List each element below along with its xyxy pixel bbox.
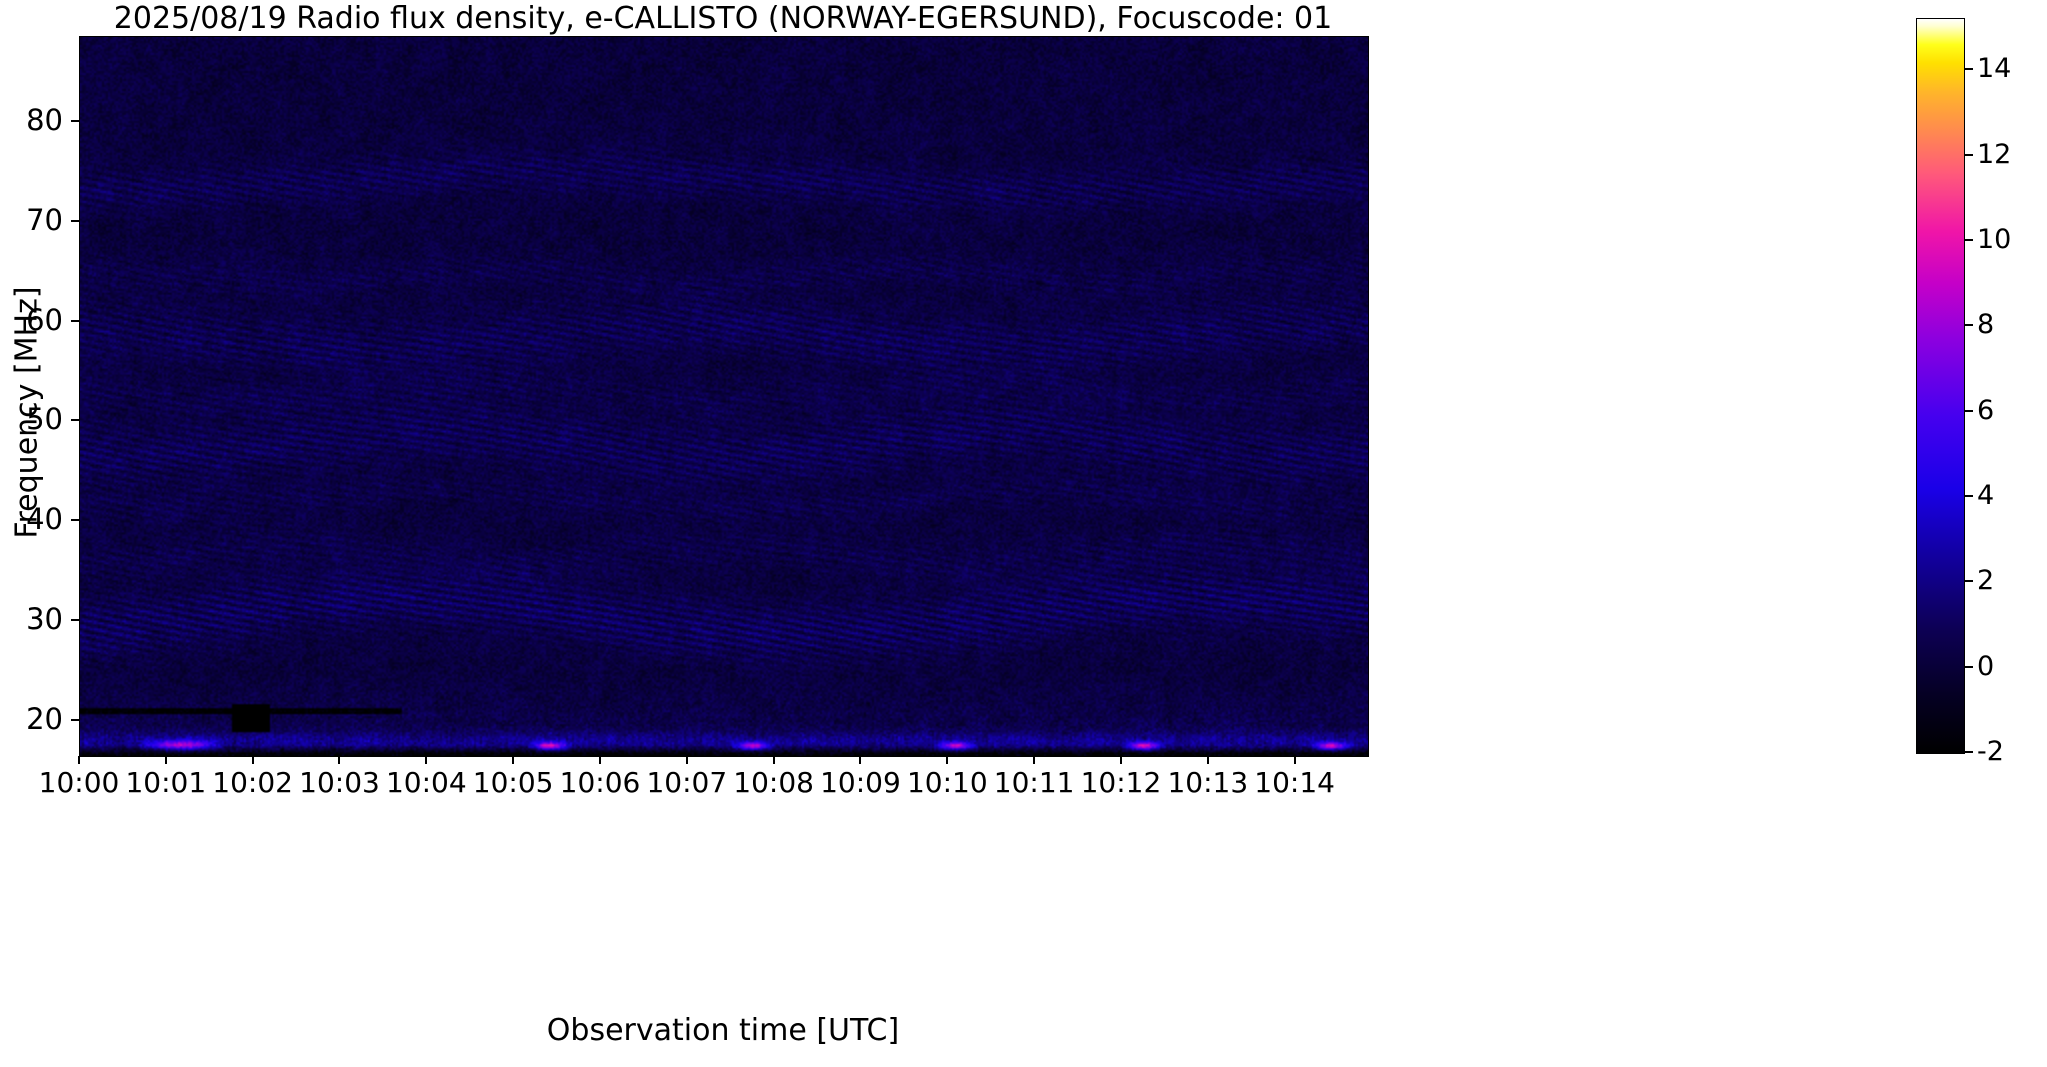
- x-tick-mark: [425, 756, 427, 764]
- colorbar-tick-mark: [1965, 324, 1973, 326]
- x-tick-mark: [686, 756, 688, 764]
- x-tick-label: 10:05: [443, 769, 583, 797]
- colorbar-tick-label: 0: [1977, 653, 2047, 680]
- colorbar-tick-label: 8: [1977, 311, 2047, 338]
- x-tick-label: 10:08: [704, 769, 844, 797]
- x-axis-label: Observation time [UTC]: [79, 1013, 1367, 1048]
- x-tick-mark: [1294, 756, 1296, 764]
- colorbar-tick-label: 4: [1977, 482, 2047, 509]
- colorbar-tick-label: 6: [1977, 397, 2047, 424]
- x-tick-mark: [252, 756, 254, 764]
- x-tick-label: 10:01: [96, 769, 236, 797]
- y-tick-mark: [71, 220, 79, 222]
- x-tick-label: 10:00: [9, 769, 149, 797]
- colorbar-tick-mark: [1965, 580, 1973, 582]
- x-tick-mark: [165, 756, 167, 764]
- y-tick-mark: [71, 419, 79, 421]
- x-tick-label: 10:09: [790, 769, 930, 797]
- x-tick-label: 10:06: [530, 769, 670, 797]
- colorbar-tick-label: -2: [1977, 738, 2047, 765]
- x-tick-mark: [599, 756, 601, 764]
- x-tick-label: 10:14: [1225, 769, 1365, 797]
- y-tick-mark: [71, 619, 79, 621]
- colorbar-tick-mark: [1965, 239, 1973, 241]
- x-tick-label: 10:02: [183, 769, 323, 797]
- x-tick-label: 10:07: [617, 769, 757, 797]
- x-tick-mark: [1207, 756, 1209, 764]
- colorbar-tick-mark: [1965, 68, 1973, 70]
- x-tick-mark: [78, 756, 80, 764]
- y-tick-mark: [71, 120, 79, 122]
- colorbar-tick-label: 10: [1977, 226, 2047, 253]
- colorbar-tick-label: 2: [1977, 567, 2047, 594]
- y-tick-mark: [71, 519, 79, 521]
- y-axis-label: Frequency [MHz]: [10, 213, 45, 613]
- x-tick-label: 10:13: [1138, 769, 1278, 797]
- colorbar-tick-mark: [1965, 495, 1973, 497]
- colorbar-tick-mark: [1965, 751, 1973, 753]
- y-tick-label: 80: [3, 106, 63, 135]
- x-tick-label: 10:03: [269, 769, 409, 797]
- x-tick-mark: [946, 756, 948, 764]
- y-tick-mark: [71, 719, 79, 721]
- x-tick-mark: [773, 756, 775, 764]
- x-tick-label: 10:11: [964, 769, 1104, 797]
- colorbar-tick-mark: [1965, 410, 1973, 412]
- x-tick-label: 10:12: [1051, 769, 1191, 797]
- page-title: 2025/08/19 Radio flux density, e-CALLIST…: [79, 2, 1367, 36]
- spectrogram-plot-area[interactable]: [79, 36, 1369, 757]
- colorbar-tick-mark: [1965, 154, 1973, 156]
- colorbar-tick-label: 14: [1977, 55, 2047, 82]
- colorbar-tick-label: 12: [1977, 141, 2047, 168]
- x-tick-label: 10:04: [356, 769, 496, 797]
- spectrogram-image: [80, 37, 1368, 756]
- spectrogram-figure: 2025/08/19 Radio flux density, e-CALLIST…: [0, 0, 2047, 1067]
- x-tick-mark: [1120, 756, 1122, 764]
- y-tick-label: 20: [3, 705, 63, 734]
- x-tick-mark: [859, 756, 861, 764]
- x-tick-mark: [338, 756, 340, 764]
- colorbar[interactable]: [1916, 18, 1965, 754]
- y-tick-mark: [71, 320, 79, 322]
- x-tick-label: 10:10: [877, 769, 1017, 797]
- colorbar-tick-mark: [1965, 666, 1973, 668]
- x-tick-mark: [1033, 756, 1035, 764]
- x-tick-mark: [512, 756, 514, 764]
